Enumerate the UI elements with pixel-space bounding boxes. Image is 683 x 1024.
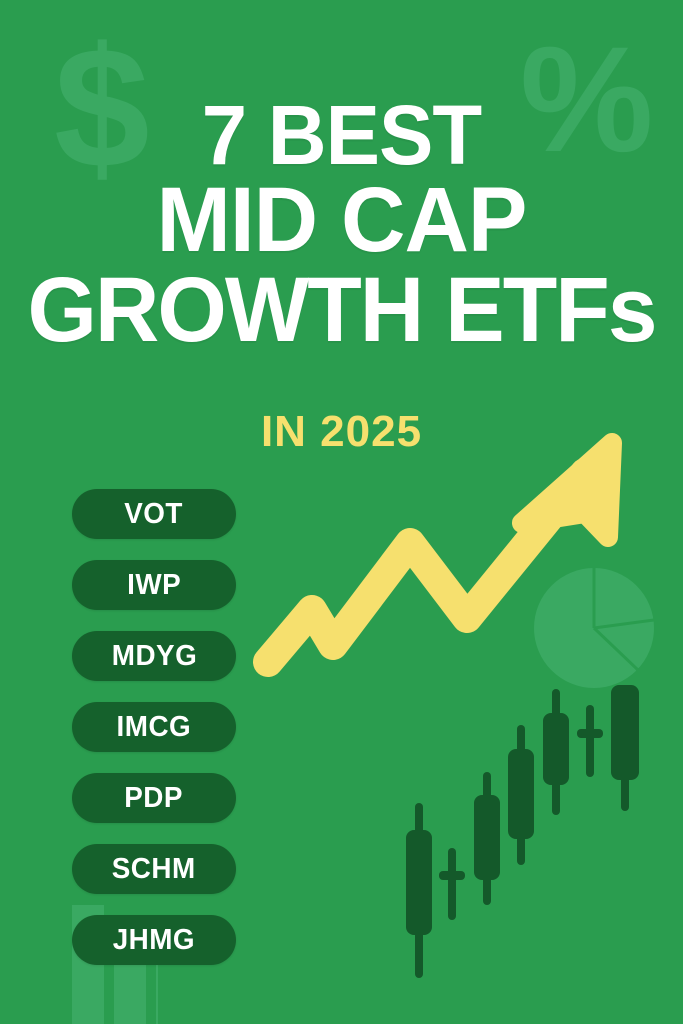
ticker-pill[interactable]: VOT — [72, 489, 236, 539]
ticker-pill[interactable]: SCHM — [72, 844, 236, 894]
title-line-3: GROWTH ETFs — [10, 268, 673, 354]
candlestick-chart-icon — [395, 685, 660, 985]
ticker-symbol: SCHM — [112, 855, 196, 884]
ticker-symbol: IMCG — [117, 713, 192, 742]
ticker-pill[interactable]: MDYG — [72, 631, 236, 681]
ticker-symbol: IWP — [127, 571, 181, 600]
upward-trend-arrow-icon — [240, 425, 640, 690]
poster-canvas: $ % — [0, 0, 683, 1024]
ticker-pill[interactable]: JHMG — [72, 915, 236, 965]
ticker-pill[interactable]: IWP — [72, 560, 236, 610]
ticker-symbol: PDP — [125, 784, 184, 813]
ticker-list: VOT IWP MDYG IMCG PDP SCHM JHMG — [72, 489, 236, 986]
subtitle-year: IN 2025 — [0, 410, 683, 454]
ticker-symbol: VOT — [125, 500, 184, 529]
ticker-symbol: MDYG — [111, 642, 196, 671]
title-line-2: MID CAP — [10, 178, 673, 264]
ticker-symbol: JHMG — [113, 926, 195, 955]
page-title: 7 BEST MID CAP GROWTH ETFs — [0, 96, 683, 353]
ticker-pill[interactable]: PDP — [72, 773, 236, 823]
ticker-pill[interactable]: IMCG — [72, 702, 236, 752]
title-line-1: 7 BEST — [10, 96, 673, 174]
